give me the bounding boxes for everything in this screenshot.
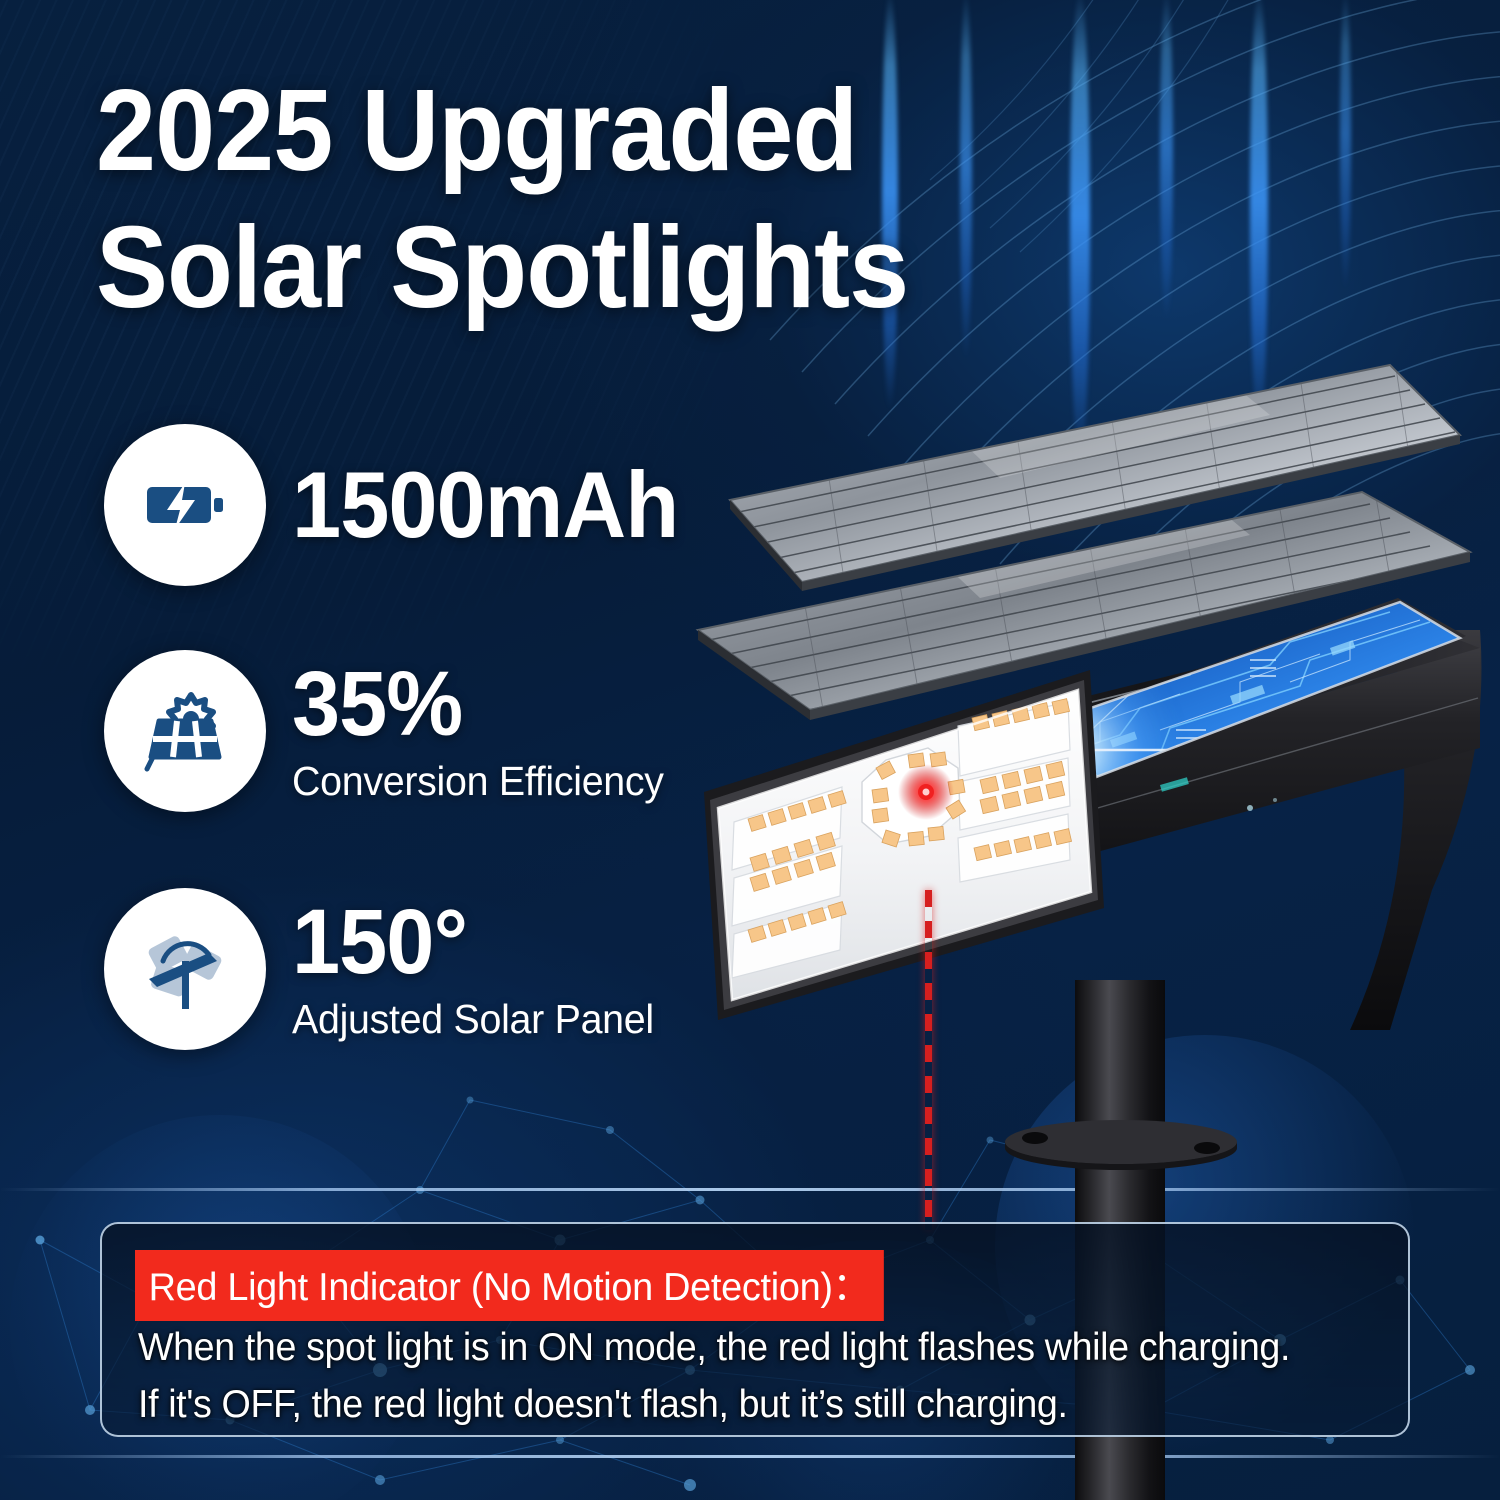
battery-charging-icon xyxy=(104,424,266,586)
feature-conversion-efficiency: 35% Conversion Efficiency xyxy=(104,650,679,812)
adjustable-solar-panel-icon xyxy=(104,888,266,1050)
horizontal-divider xyxy=(0,1455,1500,1458)
led-head-panel xyxy=(704,670,1104,1020)
feature-value: 1500mAh xyxy=(292,458,678,552)
product-infographic-page: 2025 Upgraded Solar Spotlights xyxy=(0,0,1500,1500)
solar-panel-sun-icon xyxy=(104,650,266,812)
feature-caption: Conversion Efficiency xyxy=(292,758,664,805)
headline-line-1: 2025 Upgraded xyxy=(96,65,857,195)
red-led-indicator xyxy=(898,764,954,820)
mounting-flange xyxy=(1003,1118,1239,1184)
feature-panel-angle: 150° Adjusted Solar Panel xyxy=(104,888,669,1050)
feature-value: 35% xyxy=(292,658,656,750)
callout-title: Red Light Indicator (No Motion Detection… xyxy=(135,1250,884,1321)
callout-line-1: When the spot light is in ON mode, the r… xyxy=(138,1326,1290,1370)
feature-value: 150° xyxy=(292,896,646,988)
callout-line-2: If it's OFF, the red light doesn't flash… xyxy=(138,1383,1068,1427)
red-indicator-dashed-line xyxy=(925,890,932,1230)
red-light-indicator-callout: Red Light Indicator (No Motion Detection… xyxy=(100,1222,1410,1437)
feature-caption: Adjusted Solar Panel xyxy=(292,996,654,1043)
headline-line-2: Solar Spotlights xyxy=(96,199,1026,336)
page-title: 2025 Upgraded Solar Spotlights xyxy=(96,62,1026,336)
feature-battery-capacity: 1500mAh xyxy=(104,424,703,586)
